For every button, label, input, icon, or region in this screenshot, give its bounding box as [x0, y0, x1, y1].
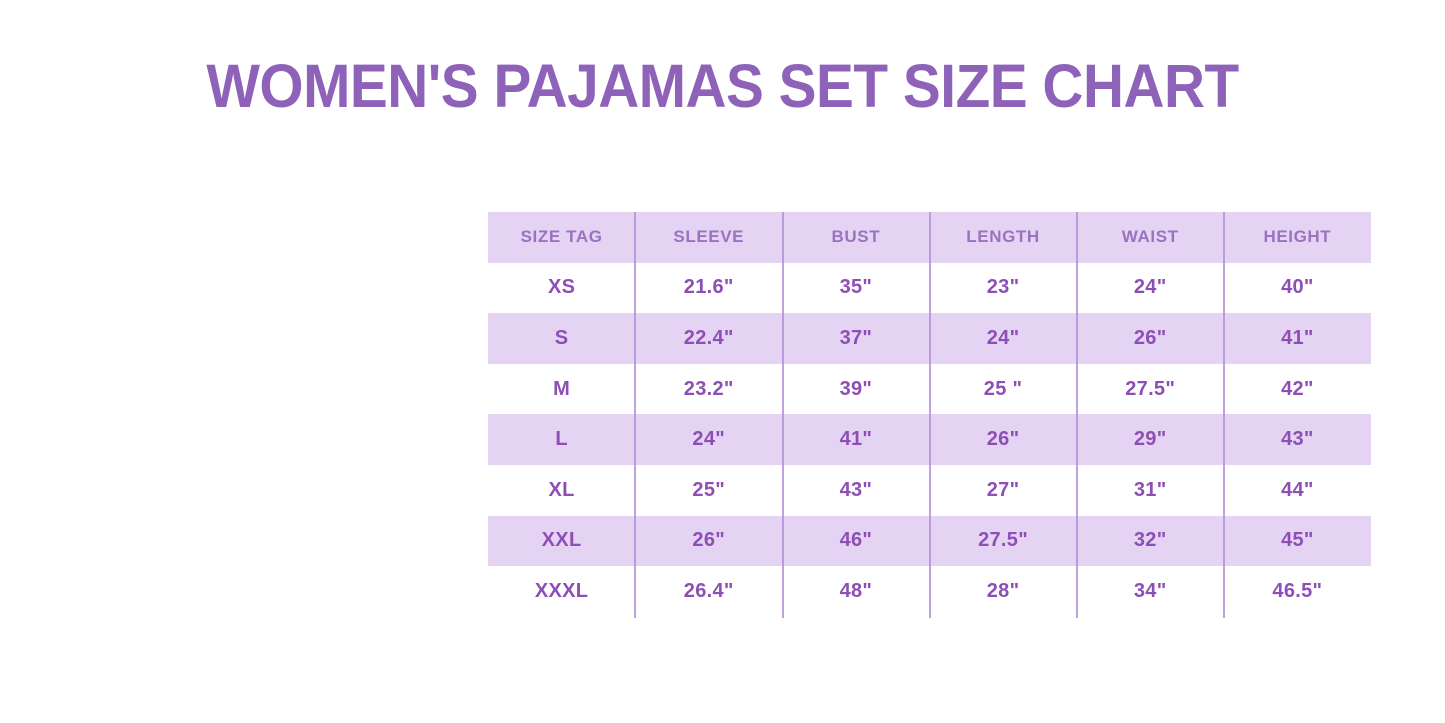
cell-size-tag: XL	[488, 465, 635, 516]
cell-length: 23"	[929, 263, 1076, 314]
cell-height: 41"	[1224, 313, 1371, 364]
size-chart-table-container: SIZE TAG SLEEVE BUST LENGTH WAIST HEIGHT…	[488, 212, 1371, 618]
cell-bust: 35"	[782, 263, 929, 314]
column-header-waist: WAIST	[1077, 212, 1224, 263]
cell-length: 28"	[929, 566, 1076, 617]
cell-height: 44"	[1224, 465, 1371, 516]
cell-sleeve: 25"	[635, 465, 782, 516]
column-header-length: LENGTH	[929, 212, 1076, 263]
cell-waist: 27.5"	[1077, 364, 1224, 415]
cell-bust: 37"	[782, 313, 929, 364]
cell-length: 27"	[929, 465, 1076, 516]
cell-waist: 31"	[1077, 465, 1224, 516]
cell-length: 24"	[929, 313, 1076, 364]
column-divider	[1223, 212, 1225, 618]
column-header-bust: BUST	[782, 212, 929, 263]
cell-height: 45"	[1224, 516, 1371, 567]
cell-size-tag: XXXL	[488, 566, 635, 617]
cell-waist: 26"	[1077, 313, 1224, 364]
cell-size-tag: M	[488, 364, 635, 415]
column-header-size-tag: SIZE TAG	[488, 212, 635, 263]
cell-waist: 29"	[1077, 414, 1224, 465]
cell-size-tag: S	[488, 313, 635, 364]
cell-height: 46.5"	[1224, 566, 1371, 617]
cell-length: 27.5"	[929, 516, 1076, 567]
page-title: WOMEN'S PAJAMAS SET SIZE CHART	[51, 55, 1395, 117]
cell-bust: 46"	[782, 516, 929, 567]
cell-sleeve: 21.6"	[635, 263, 782, 314]
cell-waist: 24"	[1077, 263, 1224, 314]
cell-waist: 32"	[1077, 516, 1224, 567]
column-divider	[634, 212, 636, 618]
cell-length: 25 "	[929, 364, 1076, 415]
cell-sleeve: 23.2"	[635, 364, 782, 415]
cell-sleeve: 24"	[635, 414, 782, 465]
cell-height: 40"	[1224, 263, 1371, 314]
cell-height: 43"	[1224, 414, 1371, 465]
cell-sleeve: 22.4"	[635, 313, 782, 364]
cell-height: 42"	[1224, 364, 1371, 415]
cell-bust: 43"	[782, 465, 929, 516]
cell-bust: 41"	[782, 414, 929, 465]
column-divider	[929, 212, 931, 618]
cell-bust: 39"	[782, 364, 929, 415]
column-header-sleeve: SLEEVE	[635, 212, 782, 263]
column-divider	[1076, 212, 1078, 618]
column-divider	[782, 212, 784, 618]
cell-sleeve: 26"	[635, 516, 782, 567]
cell-size-tag: XXL	[488, 516, 635, 567]
cell-size-tag: L	[488, 414, 635, 465]
column-header-height: HEIGHT	[1224, 212, 1371, 263]
cell-length: 26"	[929, 414, 1076, 465]
cell-sleeve: 26.4"	[635, 566, 782, 617]
cell-waist: 34"	[1077, 566, 1224, 617]
cell-bust: 48"	[782, 566, 929, 617]
cell-size-tag: XS	[488, 263, 635, 314]
